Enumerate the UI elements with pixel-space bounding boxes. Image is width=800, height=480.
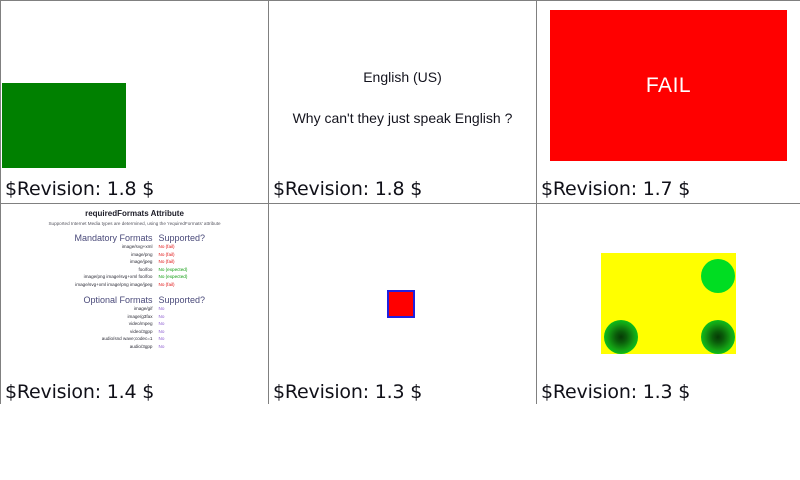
format-row: video/3gppNo [1, 328, 268, 336]
format-name: image/svg+xml image/png image/jpeg [49, 281, 159, 289]
format-supported-value: No (fail) [159, 251, 221, 259]
optional-heading-row: Optional Formats Supported? [1, 295, 268, 305]
green-gradient-circle-bottom-right [701, 320, 735, 354]
format-supported-value: No [159, 343, 221, 351]
revision-label: $Revision: 1.4 $ [5, 381, 154, 403]
fail-label: FAIL [550, 10, 787, 161]
format-row: image/svg+xmlNo (fail) [1, 243, 268, 251]
format-supported-value: No (expected) [159, 266, 221, 274]
mandatory-rows: image/svg+xmlNo (fail)image/pngNo (fail)… [1, 243, 268, 288]
revision-label: $Revision: 1.8 $ [5, 178, 154, 200]
format-row: image/png image/svg+xml foo/fooNo (expec… [1, 273, 268, 281]
mandatory-formats-heading: Mandatory Formats [49, 233, 159, 243]
language-label: English (US) [269, 69, 536, 85]
thumbnail-cell-green-rect[interactable]: $Revision: 1.8 $ [1, 1, 268, 203]
format-row: image/svg+xml image/png image/jpegNo (fa… [1, 281, 268, 289]
thumbnail-grid: $Revision: 1.8 $ English (US) Why can't … [0, 0, 800, 404]
mandatory-supported-heading: Supported? [159, 233, 221, 243]
revision-label: $Revision: 1.7 $ [541, 178, 690, 200]
mandatory-heading-row: Mandatory Formats Supported? [1, 233, 268, 243]
format-row: audio/3gppNo [1, 343, 268, 351]
format-name: image/png [49, 251, 159, 259]
format-row: image/g3faxNo [1, 313, 268, 321]
thumbnail-cell-fail[interactable]: FAIL $Revision: 1.7 $ [537, 1, 800, 203]
format-name: audio/snd wave;codec=1 [49, 335, 159, 343]
revision-label: $Revision: 1.3 $ [273, 381, 422, 403]
green-circle-top-right [701, 259, 735, 293]
format-row: foo/fooNo (expected) [1, 266, 268, 274]
green-gradient-circle-bottom-left [604, 320, 638, 354]
required-formats-report: requiredFormats Attribute Supported Inte… [1, 206, 268, 350]
report-title: requiredFormats Attribute [1, 209, 268, 218]
format-name: image/gif [49, 305, 159, 313]
thumbnail-cell-yellow-dots[interactable]: $Revision: 1.3 $ [537, 204, 800, 406]
svg-stage: FAIL [537, 1, 800, 203]
format-supported-value: No (fail) [159, 243, 221, 251]
format-supported-value: No [159, 328, 221, 336]
svg-stage [1, 1, 268, 203]
revision-label: $Revision: 1.3 $ [541, 381, 690, 403]
format-row: video/mpegNo [1, 320, 268, 328]
format-supported-value: No (expected) [159, 273, 221, 281]
format-row: audio/snd wave;codec=1No [1, 335, 268, 343]
format-name: image/jpeg [49, 258, 159, 266]
svg-stage: English (US) Why can't they just speak E… [269, 1, 536, 203]
thumbnail-cell-english-text[interactable]: English (US) Why can't they just speak E… [269, 1, 536, 203]
red-square-shape [387, 290, 415, 318]
optional-supported-heading: Supported? [159, 295, 221, 305]
format-supported-value: No (fail) [159, 258, 221, 266]
format-name: image/png image/svg+xml foo/foo [49, 273, 159, 281]
format-name: audio/3gpp [49, 343, 159, 351]
format-name: foo/foo [49, 266, 159, 274]
quip-text: Why can't they just speak English ? [269, 110, 536, 126]
svg-stage [269, 204, 536, 406]
format-name: image/svg+xml [49, 243, 159, 251]
format-supported-value: No (fail) [159, 281, 221, 289]
thumbnail-cell-required-formats[interactable]: requiredFormats Attribute Supported Inte… [1, 204, 268, 406]
optional-formats-heading: Optional Formats [49, 295, 159, 305]
thumbnail-cell-red-square[interactable]: $Revision: 1.3 $ [269, 204, 536, 406]
svg-stage [537, 204, 800, 406]
format-supported-value: No [159, 320, 221, 328]
format-row: image/pngNo (fail) [1, 251, 268, 259]
format-name: video/mpeg [49, 320, 159, 328]
format-row: image/jpegNo (fail) [1, 258, 268, 266]
format-name: image/g3fax [49, 313, 159, 321]
format-name: video/3gpp [49, 328, 159, 336]
format-supported-value: No [159, 305, 221, 313]
svg-stage: requiredFormats Attribute Supported Inte… [1, 204, 268, 406]
format-supported-value: No [159, 313, 221, 321]
green-rectangle-shape [2, 83, 126, 168]
format-supported-value: No [159, 335, 221, 343]
format-row: image/gifNo [1, 305, 268, 313]
revision-label: $Revision: 1.8 $ [273, 178, 422, 200]
report-subtitle: Supported Internet Media types are deter… [1, 221, 268, 226]
optional-rows: image/gifNoimage/g3faxNovideo/mpegNovide… [1, 305, 268, 350]
